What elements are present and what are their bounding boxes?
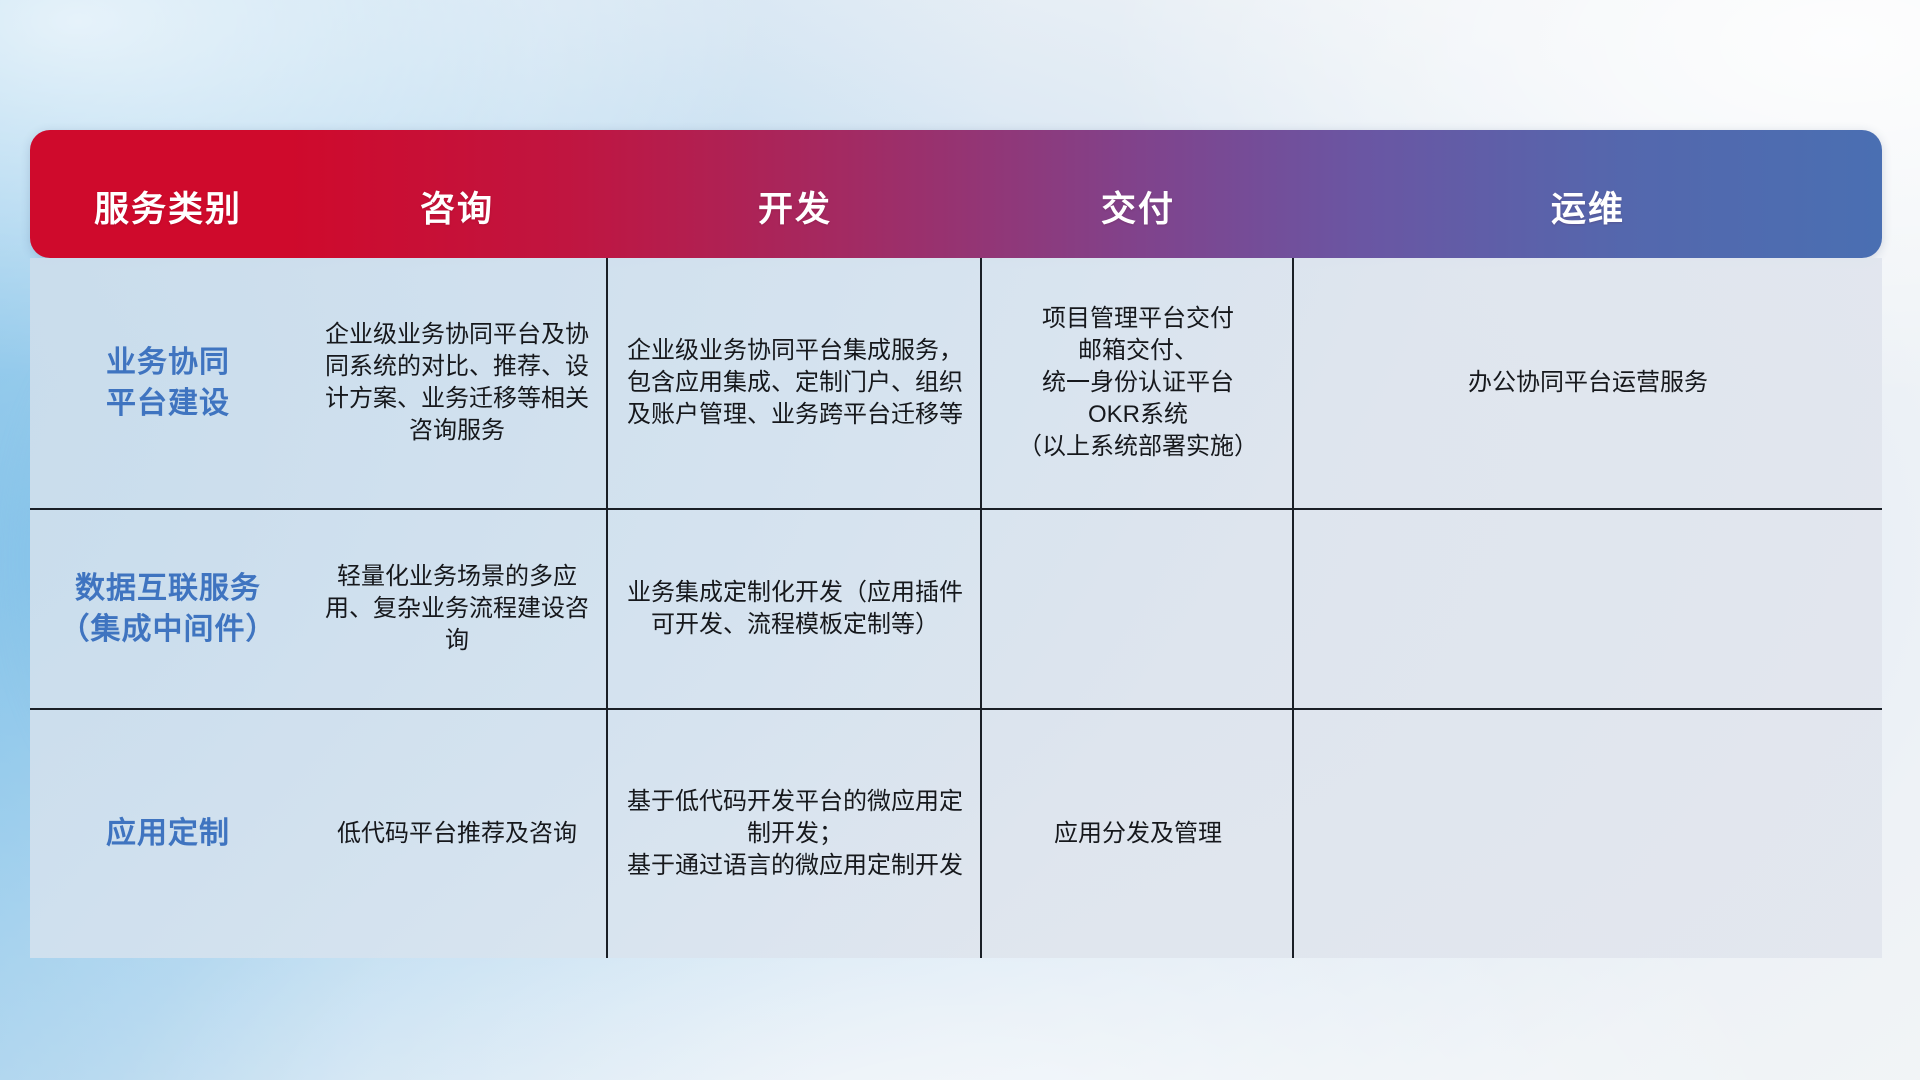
category-label: 数据互联服务 （集成中间件） [60,568,277,651]
column-header-development: 开发 [608,181,982,258]
table-header-row: 服务类别 咨询 开发 交付 运维 [30,130,1882,258]
cell-category: 应用定制 [30,710,306,958]
cell-consulting: 企业级业务协同平台及协同系统的对比、推荐、设计方案、业务迁移等相关咨询服务 [306,258,608,508]
category-label: 业务协同 平台建设 [106,342,230,425]
cell-consulting: 轻量化业务场景的多应用、复杂业务流程建设咨询 [306,510,608,708]
category-label: 应用定制 [106,813,230,854]
table-row: 业务协同 平台建设 企业级业务协同平台及协同系统的对比、推荐、设计方案、业务迁移… [30,258,1882,508]
cell-category: 数据互联服务 （集成中间件） [30,510,306,708]
cell-consulting: 低代码平台推荐及咨询 [306,710,608,958]
cell-category: 业务协同 平台建设 [30,258,306,508]
column-header-delivery: 交付 [982,181,1294,258]
cell-delivery: 项目管理平台交付 邮箱交付、 统一身份认证平台 OKR系统 （以上系统部署实施） [982,258,1294,508]
cell-development: 业务集成定制化开发（应用插件可开发、流程模板定制等） [608,510,982,708]
column-header-consulting: 咨询 [306,181,608,258]
column-header-service-category: 服务类别 [30,181,306,258]
table-row: 数据互联服务 （集成中间件） 轻量化业务场景的多应用、复杂业务流程建设咨询 业务… [30,508,1882,708]
column-header-operations: 运维 [1294,181,1882,258]
cell-development: 企业级业务协同平台集成服务，包含应用集成、定制门户、组织及账户管理、业务跨平台迁… [608,258,982,508]
service-matrix-table: 服务类别 咨询 开发 交付 运维 业务协同 平台建设 企业级业务协同平台及协同系… [30,130,1882,960]
table-body: 业务协同 平台建设 企业级业务协同平台及协同系统的对比、推荐、设计方案、业务迁移… [30,258,1882,958]
table-row: 应用定制 低代码平台推荐及咨询 基于低代码开发平台的微应用定制开发； 基于通过语… [30,708,1882,958]
cell-delivery: 应用分发及管理 [982,710,1294,958]
cell-operations [1294,710,1882,958]
cell-operations [1294,510,1882,708]
cell-development: 基于低代码开发平台的微应用定制开发； 基于通过语言的微应用定制开发 [608,710,982,958]
cell-operations: 办公协同平台运营服务 [1294,258,1882,508]
cell-delivery [982,510,1294,708]
